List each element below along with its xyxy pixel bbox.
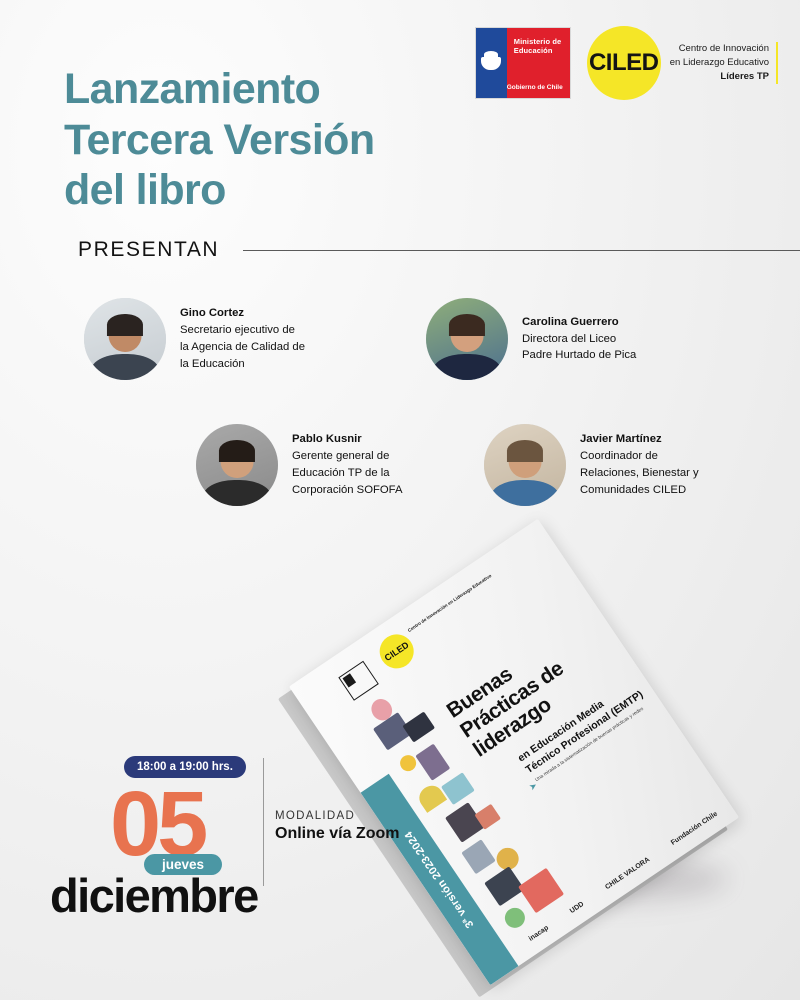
ciled-tagline-line1: Centro de Innovación [670, 42, 769, 56]
speaker-card: Gino Cortez Secretario ejecutivo de la A… [84, 298, 305, 380]
chile-flag-red-panel: Ministerio de Educación Gobierno de Chil… [507, 28, 570, 98]
book-ministry-icon [338, 661, 379, 701]
book-ciled-badge: CILED [373, 628, 420, 675]
speaker-card: Pablo Kusnir Gerente general de Educació… [196, 424, 403, 506]
presenters-heading: PRESENTAN [78, 238, 800, 262]
speaker-role-line2: la Agencia de Calidad de [180, 339, 305, 356]
presenters-divider [243, 250, 800, 251]
speaker-name: Pablo Kusnir [292, 431, 403, 448]
speaker-role-line2: Educación TP de la [292, 465, 403, 482]
avatar [196, 424, 278, 506]
speaker-role-line2: Padre Hurtado de Pica [522, 347, 636, 364]
presentan-label: PRESENTAN [78, 238, 219, 262]
avatar [484, 424, 566, 506]
avatar [84, 298, 166, 380]
speaker-role-line3: la Educación [180, 356, 305, 373]
title-line-3: del libro [64, 165, 375, 216]
speaker-role-line1: Secretario ejecutivo de [180, 322, 305, 339]
speaker-role-line1: Directora del Liceo [522, 331, 636, 348]
book-cover: 3ª versión 2023-2024 CILED Centro de Inn… [289, 519, 739, 985]
speaker-info: Javier Martínez Coordinador de Relacione… [580, 431, 699, 499]
speaker-info: Pablo Kusnir Gerente general de Educació… [292, 431, 403, 499]
ministerio-educacion-logo: Ministerio de Educación Gobierno de Chil… [475, 27, 571, 99]
ministry-line1: Ministerio de [514, 37, 562, 46]
ministry-footer: Gobierno de Chile [507, 84, 563, 91]
speaker-role-line3: Corporación SOFOFA [292, 482, 403, 499]
event-modality: MODALIDAD Online vía Zoom [275, 810, 399, 843]
speaker-name: Carolina Guerrero [522, 314, 636, 331]
speaker-card: Javier Martínez Coordinador de Relacione… [484, 424, 699, 506]
title-line-1: Lanzamiento [64, 64, 375, 115]
ministry-line2: Educación [514, 46, 562, 55]
book-ciled-sub: Centro de Innovación en Liderazgo Educat… [407, 573, 493, 634]
speaker-name: Javier Martínez [580, 431, 699, 448]
partner-logo: Fundación Chile [670, 811, 719, 847]
ciled-tagline-line2: en Liderazgo Educativo [670, 56, 769, 70]
speaker-name: Gino Cortez [180, 305, 305, 322]
ciled-acronym: CILED [587, 26, 661, 100]
date-modality-divider [263, 758, 264, 886]
ciled-tagline: Centro de Innovación en Liderazgo Educat… [670, 42, 778, 83]
avatar [426, 298, 508, 380]
speaker-role-line3: Comunidades CILED [580, 482, 699, 499]
speaker-role-line1: Coordinador de [580, 448, 699, 465]
speaker-info: Gino Cortez Secretario ejecutivo de la A… [180, 305, 305, 373]
speaker-role-line2: Relaciones, Bienestar y [580, 465, 699, 482]
header-logos: Ministerio de Educación Gobierno de Chil… [475, 26, 778, 100]
ciled-logo: CILED Centro de Innovación en Liderazgo … [587, 26, 778, 100]
speaker-card: Carolina Guerrero Directora del Liceo Pa… [426, 298, 636, 380]
page-title: Lanzamiento Tercera Versión del libro [64, 64, 375, 216]
book-mockup: 3ª versión 2023-2024 CILED Centro de Inn… [318, 556, 748, 956]
ciled-tagline-line3: Líderes TP [670, 70, 769, 84]
chile-flag-blue-panel [476, 28, 507, 98]
modality-value: Online vía Zoom [275, 825, 399, 843]
chile-coat-of-arms-icon [478, 50, 504, 76]
modality-label: MODALIDAD [275, 810, 399, 822]
event-month: diciembre [50, 868, 258, 923]
speaker-info: Carolina Guerrero Directora del Liceo Pa… [522, 314, 636, 365]
title-line-2: Tercera Versión [64, 115, 375, 166]
speaker-role-line1: Gerente general de [292, 448, 403, 465]
